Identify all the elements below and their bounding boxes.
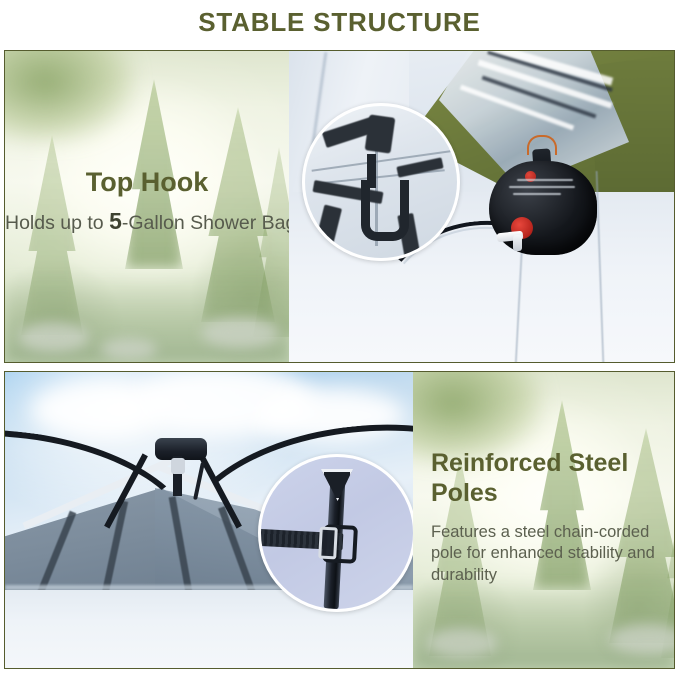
bag-print-text — [507, 179, 579, 209]
top-hook-photo-panel — [289, 51, 674, 362]
subline-highlight-number: 5 — [109, 208, 122, 234]
magnifier-top-hook — [302, 103, 460, 261]
page-title: STABLE STRUCTURE — [0, 0, 679, 44]
subline-suffix: -Gallon Shower Bag — [122, 212, 289, 234]
steel-poles-headline: Reinforced Steel Poles — [431, 448, 660, 508]
subline-prefix: Holds up to — [5, 212, 109, 234]
hook-closeup-scene — [305, 106, 457, 258]
tent-roof-photo — [5, 372, 413, 668]
rock — [101, 338, 157, 360]
tent-interior-photo — [289, 51, 674, 362]
top-hook-icon — [361, 180, 409, 241]
webbing-strap — [396, 157, 443, 177]
shower-bag — [489, 135, 597, 255]
top-hook-headline: Top Hook — [5, 167, 289, 198]
canopy-foliage — [5, 51, 135, 143]
pole-hub-pin — [171, 458, 185, 474]
webbing-strap — [314, 204, 342, 251]
top-hook-subline: Holds up to 5-Gallon Shower Bag — [5, 208, 289, 235]
top-hook-text-block: Top Hook Holds up to 5-Gallon Shower Bag — [5, 167, 289, 235]
steel-poles-text-block: Reinforced Steel Poles Features a steel … — [431, 448, 660, 586]
webbing-strap — [365, 114, 396, 153]
rock — [201, 318, 279, 348]
feature-panel-bottom: Reinforced Steel Poles Features a steel … — [4, 371, 675, 669]
rock — [427, 628, 497, 658]
top-hook-text-panel: Top Hook Holds up to 5-Gallon Shower Bag — [5, 51, 289, 362]
magnifier-pole-strap — [258, 454, 413, 612]
steel-poles-photo-panel — [5, 372, 413, 668]
pole-strap-buckle — [318, 527, 338, 560]
pole-tip — [321, 469, 353, 501]
bag-valve-stem — [513, 235, 522, 251]
rock — [19, 322, 89, 352]
steel-poles-body: Features a steel chain-corded pole for e… — [431, 522, 660, 586]
steel-poles-text-panel: Reinforced Steel Poles Features a steel … — [413, 372, 674, 668]
feature-panel-top: Top Hook Holds up to 5-Gallon Shower Bag — [4, 50, 675, 363]
